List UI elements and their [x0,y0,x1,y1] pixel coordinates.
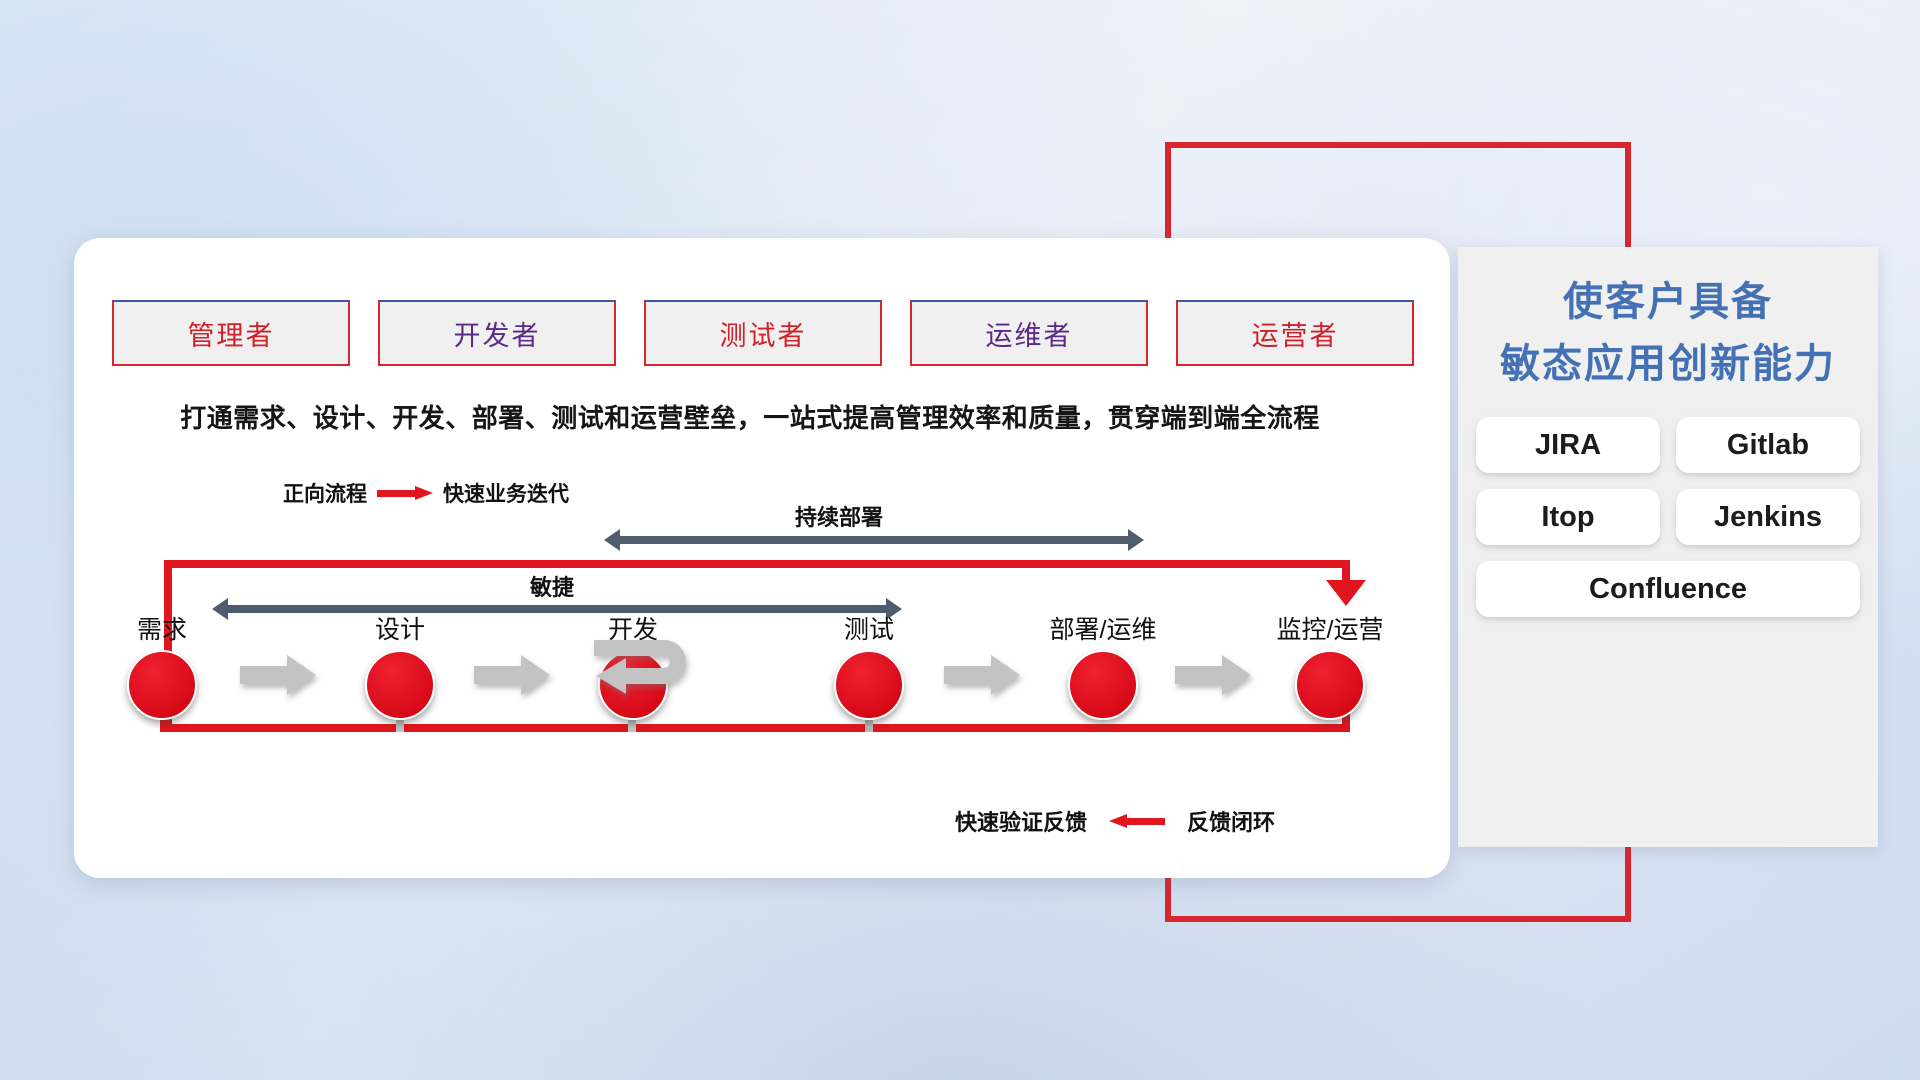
panel-title-line2: 敏态应用创新能力 [1458,333,1878,395]
feedback-loop-bottom-line [164,724,1350,732]
tool-gitlab[interactable]: Gitlab [1676,417,1860,473]
loop-back-arrow-icon [590,636,698,708]
role-label: 运维者 [986,314,1073,353]
feedback-legend: 快速验证反馈 反馈闭环 [955,805,1275,837]
stage-label: 部署/运维 [1018,610,1188,646]
panel-title: 使客户具备 敏态应用创新能力 [1458,247,1878,395]
stage-test[interactable]: 测试 [784,610,954,720]
stage-label: 需求 [77,610,247,646]
stage-dot [1068,650,1138,720]
tool-list: JIRA Gitlab Itop Jenkins Confluence [1476,417,1860,617]
stage-monitor-operation[interactable]: 监控/运营 [1245,610,1415,720]
tool-jira[interactable]: JIRA [1476,417,1660,473]
stage-label: 设计 [315,610,485,646]
fast-iteration-label: 快速业务迭代 [443,478,569,508]
red-right-arrow-icon [377,486,433,500]
role-box-operator[interactable]: 运营者 [1176,300,1414,366]
role-box-manager[interactable]: 管理者 [112,300,350,366]
tool-itop[interactable]: Itop [1476,489,1660,545]
stage-label: 监控/运营 [1245,610,1415,646]
role-box-tester[interactable]: 测试者 [644,300,882,366]
span-label-continuous-deploy: 持续部署 [795,500,883,532]
feedback-closed-loop-label: 反馈闭环 [1187,805,1275,837]
stage-design[interactable]: 设计 [315,610,485,720]
chevron-right-icon [944,655,1020,695]
chevron-right-icon [1175,655,1251,695]
stage-deploy-ops[interactable]: 部署/运维 [1018,610,1188,720]
stage-label: 测试 [784,610,954,646]
stage-requirement[interactable]: 需求 [77,610,247,720]
role-label: 测试者 [720,314,807,353]
role-box-developer[interactable]: 开发者 [378,300,616,366]
stage-dot [365,650,435,720]
fast-verify-feedback-label: 快速验证反馈 [955,805,1087,837]
red-left-arrow-icon [1109,814,1165,828]
stage-dot [834,650,904,720]
feedback-loop-top-line [164,560,1350,568]
forward-flow-label: 正向流程 [283,478,367,508]
tools-panel: 使客户具备 敏态应用创新能力 JIRA Gitlab Itop Jenkins … [1458,247,1878,847]
role-box-ops[interactable]: 运维者 [910,300,1148,366]
tool-confluence[interactable]: Confluence [1476,561,1860,617]
forward-flow-legend: 正向流程 快速业务迭代 [283,478,569,508]
chevron-right-icon [474,655,550,695]
role-label: 运营者 [1252,314,1339,353]
stage-dot [1295,650,1365,720]
chevron-right-icon [240,655,316,695]
description-text: 打通需求、设计、开发、部署、测试和运营壁垒，一站式提高管理效率和质量，贯穿端到端… [0,398,1500,435]
continuous-deploy-arrow [604,529,1144,551]
role-label: 管理者 [188,314,275,353]
panel-title-line1: 使客户具备 [1458,271,1878,333]
tool-jenkins[interactable]: Jenkins [1676,489,1860,545]
role-label: 开发者 [454,314,541,353]
stage-dot [127,650,197,720]
feedback-loop-down-arrow-icon [1326,580,1366,606]
role-box-row: 管理者 开发者 测试者 运维者 运营者 [112,300,1414,366]
